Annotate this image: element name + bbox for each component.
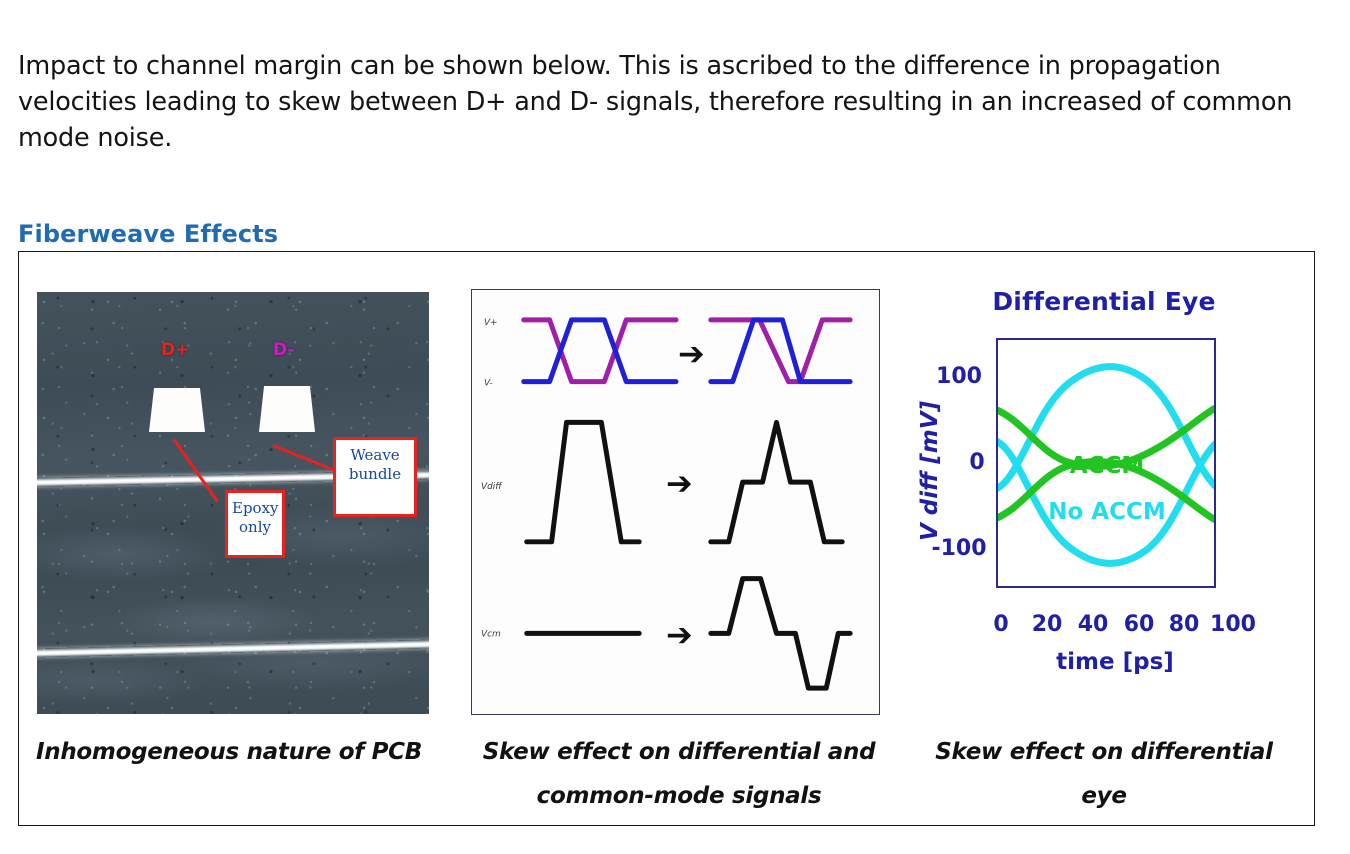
callout-epoxy-only: Epoxy only	[225, 490, 285, 558]
caption-waveforms-line2: common-mode signals	[459, 774, 899, 818]
eye-xaxis-label: time [ps]	[1056, 649, 1174, 675]
waveform-row2-ideal	[527, 422, 639, 541]
callout-epoxy-line1: Epoxy	[232, 499, 278, 518]
figure-container: D+ D- Epoxy only Weave bundle V+ V- Vdif…	[18, 251, 1315, 826]
caption-pcb: Inhomogeneous nature of PCB	[29, 730, 429, 774]
waveform-row2-skewed	[711, 422, 842, 541]
eye-xtick-80: 80	[1169, 612, 1200, 637]
waveform-row-label-vplus: V+	[484, 318, 498, 328]
waveform-row-label-vcm: Vcm	[481, 629, 501, 639]
pcb-label-d-minus: D-	[273, 340, 294, 360]
differential-eye-chart: 100 0 -100 V diff [mV] 0 20 40 60 80 100…	[919, 321, 1289, 717]
eye-xtick-40: 40	[1078, 612, 1109, 637]
waveform-arrow-3: ➔	[666, 615, 693, 653]
waveform-row-label-vminus: V-	[484, 379, 493, 389]
callout-weave-line1: Weave	[340, 446, 410, 465]
trace-d-plus	[149, 388, 205, 432]
pcb-micrograph-panel: D+ D- Epoxy only Weave bundle	[37, 292, 429, 714]
caption-waveforms: Skew effect on differential and common-m…	[459, 730, 899, 818]
waveform-row1-skewed	[711, 320, 850, 382]
eye-xtick-60: 60	[1124, 612, 1155, 637]
section-heading-fiberweave-effects: Fiberweave Effects	[18, 220, 278, 248]
skew-waveform-panel: V+ V- Vdiff Vcm ➔ ➔	[471, 289, 880, 715]
trace-d-minus	[259, 386, 315, 432]
eye-xtick-20: 20	[1032, 612, 1063, 637]
caption-waveforms-line1: Skew effect on differential and	[459, 730, 899, 774]
eye-yaxis-label: V diff [mV]	[919, 400, 943, 541]
eye-xtick-0: 0	[993, 612, 1008, 637]
eye-xtick-100: 100	[1210, 612, 1256, 637]
callout-weave-line2: bundle	[340, 465, 410, 484]
waveform-row3-skewed	[711, 579, 850, 688]
eye-ytick-100: 100	[936, 364, 982, 389]
waveform-row-label-vdiff: Vdiff	[481, 482, 503, 492]
eye-label-no-accm: No ACCM	[1048, 499, 1166, 525]
skew-waveform-diagram: V+ V- Vdiff Vcm ➔ ➔	[472, 290, 879, 714]
waveform-row1-ideal	[524, 320, 676, 382]
callout-epoxy-line2: only	[232, 518, 278, 537]
caption-eye: Skew effect on differential eye	[909, 730, 1299, 818]
pcb-cross-section-image: D+ D- Epoxy only Weave bundle	[37, 292, 429, 714]
intro-paragraph: Impact to channel margin can be shown be…	[18, 48, 1318, 156]
eye-label-accm: ACCM	[1070, 453, 1144, 479]
eye-ytick-0: 0	[969, 450, 984, 475]
eye-diagram-title: Differential Eye	[919, 287, 1289, 316]
callout-weave-bundle: Weave bundle	[333, 437, 417, 517]
pcb-label-d-plus: D+	[161, 340, 189, 360]
waveform-arrow-2: ➔	[666, 464, 693, 502]
differential-eye-panel: Differential Eye 100 0 -100 V diff [mV] …	[919, 287, 1289, 717]
waveform-arrow-1: ➔	[678, 335, 705, 373]
